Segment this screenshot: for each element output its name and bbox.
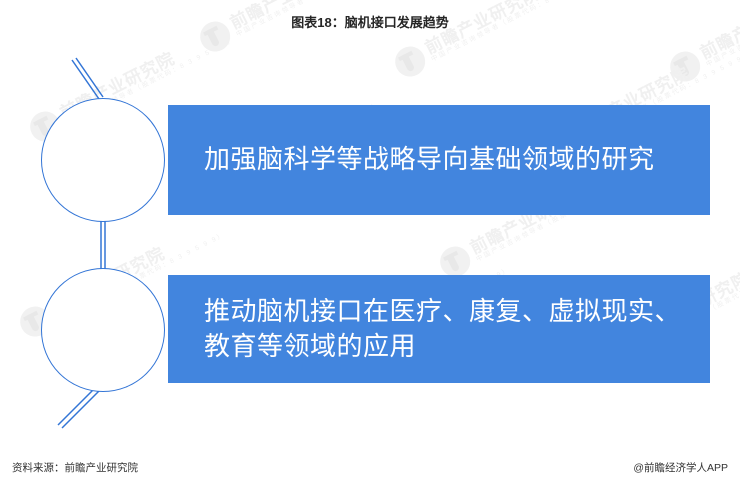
trend-bar-1-label: 加强脑科学等战略导向基础领域的研究 xyxy=(168,142,665,177)
trend-bar-2-label: 推动脑机接口在医疗、康复、虚拟现实、教育等领域的应用 xyxy=(168,294,710,364)
lead-line-bottom xyxy=(58,388,99,428)
chart-page: 前瞻产业研究院中国产业咨询领导者（股票代码：8 3 9 5 9 9）前瞻产业研究… xyxy=(0,0,740,490)
trend-bar-1[interactable]: 加强脑科学等战略导向基础领域的研究 xyxy=(168,105,710,215)
brand-label: @前瞻经济学人APP xyxy=(633,460,728,475)
lead-line-top xyxy=(72,58,103,99)
connector-middle xyxy=(101,220,105,270)
trend-node-marker-1 xyxy=(41,98,165,222)
page-title: 图表18：脑机接口发展趋势 xyxy=(0,12,740,31)
trend-diagram: 加强脑科学等战略导向基础领域的研究 推动脑机接口在医疗、康复、虚拟现实、教育等领… xyxy=(0,30,740,430)
trend-bar-2[interactable]: 推动脑机接口在医疗、康复、虚拟现实、教育等领域的应用 xyxy=(168,275,710,383)
source-label: 资料来源：前瞻产业研究院 xyxy=(12,460,138,475)
trend-node-marker-2 xyxy=(41,268,165,392)
footer: 资料来源：前瞻产业研究院 @前瞻经济学人APP xyxy=(0,460,740,476)
